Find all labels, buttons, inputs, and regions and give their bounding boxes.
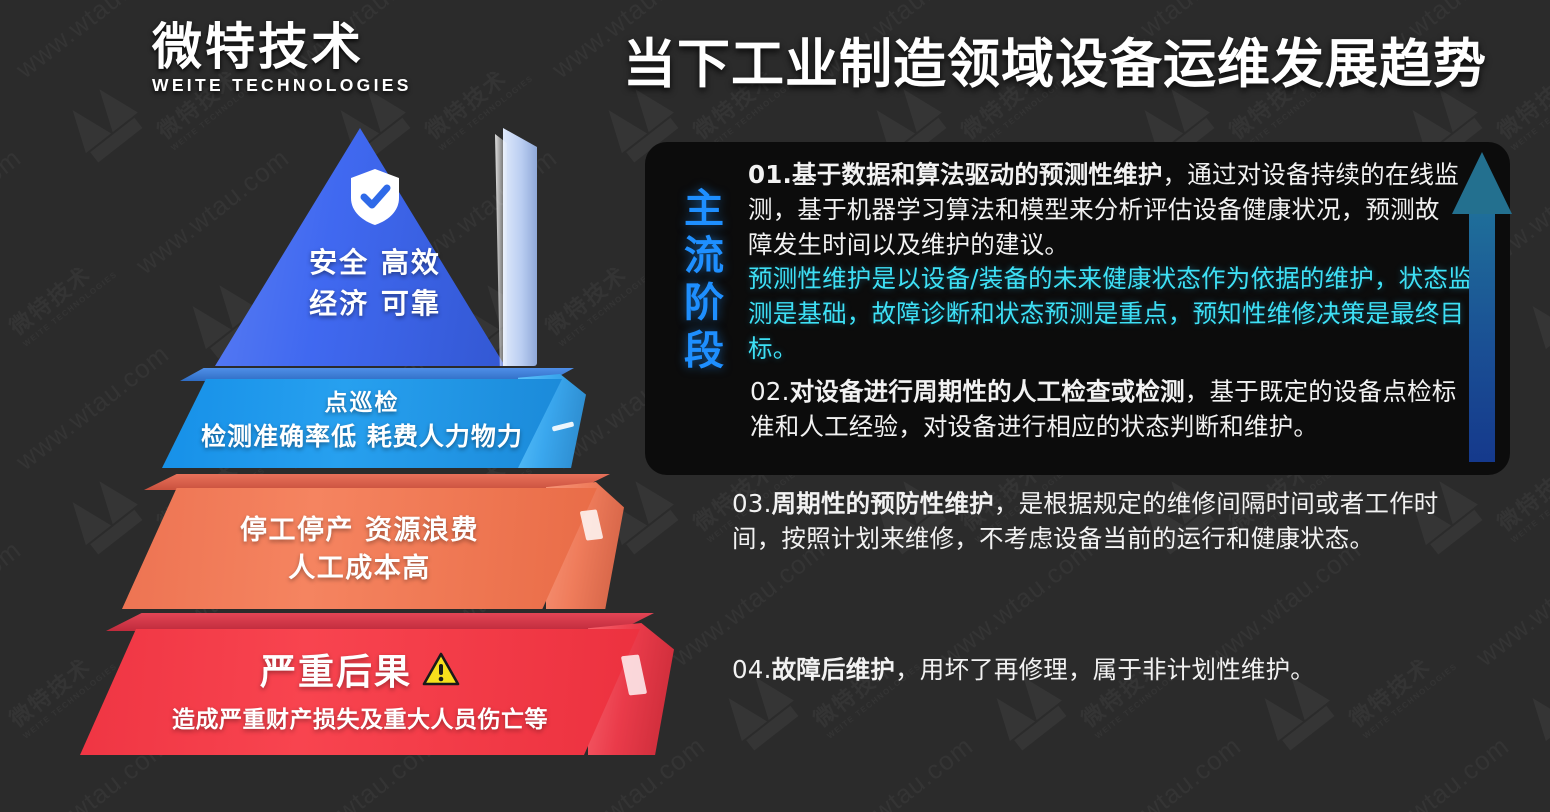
- page-title: 当下工业制造领域设备运维发展趋势: [560, 36, 1550, 94]
- pyramid-level-1-text: 安全 高效 经济 可靠: [245, 243, 505, 324]
- trend-item-01-bold: 基于数据和算法驱动的预测性维护: [792, 160, 1163, 189]
- pyramid-level-3-top-face: [144, 474, 610, 490]
- trend-item-03-bold: 周期性的预防性维护: [772, 489, 994, 518]
- slide-header: 微特技术 WEITE TECHNOLOGIES 当下工业制造领域设备运维发展趋势: [0, 0, 1550, 120]
- pyramid-level-2-line2: 检测准确率低 耗费人力物力: [162, 420, 562, 453]
- pyramid-level-4-line2: 造成严重财产损失及重大人员伤亡等: [80, 700, 640, 734]
- arrow-shaft: [1469, 210, 1495, 462]
- trend-item-01: 01.基于数据和算法驱动的预测性维护，通过对设备持续的在线监测，基于机器学习算法…: [748, 158, 1463, 262]
- predictive-maintenance-note: 预测性维护是以设备/装备的未来健康状态作为依据的维护，状态监测是基础，故障诊断和…: [748, 262, 1478, 366]
- trend-item-04-bold: 故障后维护: [772, 655, 896, 684]
- pyramid-level-4-line1-row: 严重后果: [80, 643, 640, 695]
- pyramid-level-2-text: 点巡检 检测准确率低 耗费人力物力: [162, 388, 562, 453]
- pyramid-level-1[interactable]: 安全 高效 经济 可靠: [215, 128, 535, 366]
- trend-item-03: 03.周期性的预防性维护，是根据规定的维修间隔时间或者工作时间，按照计划来维修，…: [732, 487, 1487, 557]
- pyramid-level-3-line2: 人工成本高: [122, 550, 597, 588]
- pyramid-level-2-line1: 点巡检: [162, 388, 562, 418]
- trend-item-01-number: 01.: [748, 160, 792, 189]
- pyramid-level-1-line2: 经济 可靠: [245, 284, 505, 325]
- pyramid-level-3-line1: 停工停产 资源浪费: [122, 512, 597, 550]
- stage-label-char-3: 阶: [676, 280, 732, 327]
- trend-content: 主 流 阶 段 01.基于数据和算法驱动的预测性维护，通过对设备持续的在线监测，…: [640, 0, 1550, 812]
- brand-logo-cn: 微特技术: [152, 22, 412, 73]
- pyramid-level-3[interactable]: 停工停产 资源浪费 人工成本高: [122, 474, 632, 609]
- trend-item-02-bold: 对设备进行周期性的人工检查或检测: [790, 377, 1185, 406]
- stage-label-char-4: 段: [676, 328, 732, 375]
- pyramid-level-2[interactable]: 点巡检 检测准确率低 耗费人力物力: [162, 368, 592, 468]
- pyramid-level-4-text: 严重后果 造成严重财产损失及重大人员伤亡等: [80, 643, 640, 734]
- warning-triangle-icon: [422, 652, 460, 686]
- maintenance-maturity-pyramid: 安全 高效 经济 可靠 点巡检 检测准确率低 耗费人力物力 停工停产 资源浪费 …: [0, 0, 700, 812]
- pyramid-level-1-line1: 安全 高效: [245, 243, 505, 284]
- trend-item-02-number: 02.: [750, 377, 790, 406]
- upward-trend-arrow-icon: [1452, 152, 1512, 462]
- pyramid-level-4-top-face: [106, 613, 654, 631]
- arrow-head: [1452, 152, 1512, 214]
- trend-item-04-rest: ，用坏了再修理，属于非计划性维护。: [895, 655, 1315, 684]
- shield-check-icon: [349, 168, 401, 226]
- trend-item-03-number: 03.: [732, 489, 772, 518]
- pyramid-level-1-side-face: [503, 128, 537, 366]
- slide-canvas: www.wtau.com微特技术WEITE TECHNOLOGIESwww.wt…: [0, 0, 1550, 812]
- pyramid-level-4[interactable]: 严重后果 造成严重财产损失及重大人员伤亡等: [80, 613, 680, 755]
- trend-item-04: 04.故障后维护，用坏了再修理，属于非计划性维护。: [732, 653, 1492, 688]
- pyramid-level-4-line1: 严重后果: [260, 643, 412, 695]
- brand-logo: 微特技术 WEITE TECHNOLOGIES: [152, 22, 412, 96]
- trend-item-04-number: 04.: [732, 655, 772, 684]
- trend-item-02: 02.对设备进行周期性的人工检查或检测，基于既定的设备点检标准和人工经验，对设备…: [750, 375, 1480, 445]
- stage-label-char-1: 主: [676, 186, 732, 233]
- stage-label-char-2: 流: [676, 233, 732, 280]
- mainstream-stage-label: 主 流 阶 段: [676, 186, 732, 375]
- pyramid-level-3-text: 停工停产 资源浪费 人工成本高: [122, 512, 597, 589]
- brand-logo-en: WEITE TECHNOLOGIES: [152, 75, 412, 96]
